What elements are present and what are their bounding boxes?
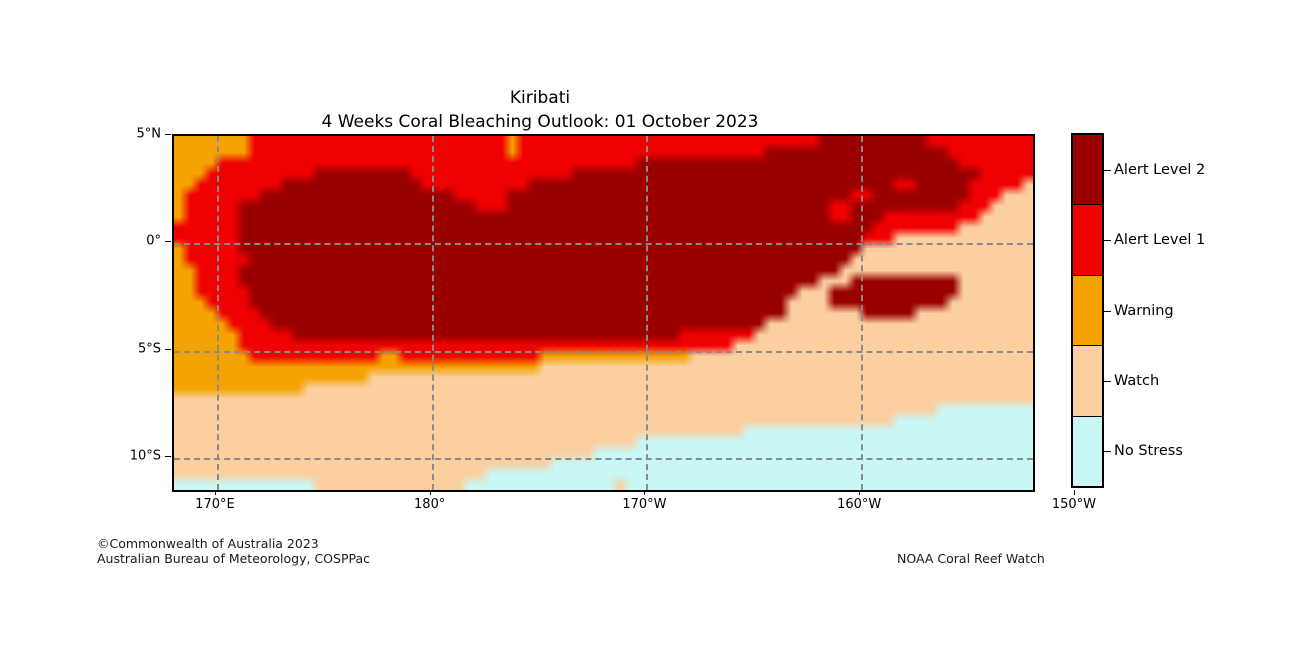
legend-colorbar bbox=[1071, 133, 1104, 488]
x-axis-tick-mark bbox=[215, 490, 216, 495]
x-axis-tick-mark bbox=[644, 490, 645, 495]
y-axis-tick-label: 5°N bbox=[137, 127, 162, 142]
legend-label-watch: Watch bbox=[1114, 373, 1159, 389]
copyright-credit: ©Commonwealth of Australia 2023 Australi… bbox=[97, 536, 370, 566]
page-subtitle: 4 Weeks Coral Bleaching Outlook: 01 Octo… bbox=[0, 110, 1080, 134]
x-axis-tick-label: 160°W bbox=[837, 497, 881, 512]
legend-label-no-stress: No Stress bbox=[1114, 443, 1183, 459]
y-axis-tick-mark bbox=[165, 241, 171, 242]
legend-label-alert-level-1: Alert Level 1 bbox=[1114, 232, 1205, 248]
x-axis-tick-mark bbox=[1074, 490, 1075, 495]
x-axis-tick-label: 170°E bbox=[195, 497, 235, 512]
x-axis-tick-mark bbox=[430, 490, 431, 495]
bleaching-outlook-raster bbox=[174, 136, 1033, 490]
copyright-line-1: ©Commonwealth of Australia 2023 bbox=[97, 536, 370, 551]
y-axis-tick-label: 10°S bbox=[130, 448, 161, 463]
y-axis-tick-mark bbox=[165, 349, 171, 350]
figure-title: Kiribati 4 Weeks Coral Bleaching Outlook… bbox=[0, 86, 1080, 134]
legend-tick-mark bbox=[1104, 311, 1111, 312]
legend-tick-mark bbox=[1104, 451, 1111, 452]
coral-bleaching-outlook-figure: Kiribati 4 Weeks Coral Bleaching Outlook… bbox=[0, 0, 1293, 667]
legend-tick-mark bbox=[1104, 240, 1111, 241]
y-axis-tick-mark bbox=[165, 456, 171, 457]
x-axis-tick-mark bbox=[859, 490, 860, 495]
legend-swatch-alert-level-1 bbox=[1073, 204, 1102, 274]
map-plot-area bbox=[172, 134, 1035, 492]
legend-swatch-warning bbox=[1073, 275, 1102, 345]
x-axis-tick-label: 180° bbox=[414, 497, 445, 512]
copyright-line-2: Australian Bureau of Meteorology, COSPPa… bbox=[97, 551, 370, 566]
y-axis-tick-label: 5°S bbox=[138, 341, 161, 356]
y-axis-tick-mark bbox=[165, 134, 171, 135]
x-axis-tick-label: 150°W bbox=[1052, 497, 1096, 512]
page-title: Kiribati bbox=[0, 86, 1080, 110]
y-axis-tick-label: 0° bbox=[146, 234, 161, 249]
legend-label-warning: Warning bbox=[1114, 303, 1174, 319]
legend-tick-mark bbox=[1104, 170, 1111, 171]
x-axis-tick-label: 170°W bbox=[622, 497, 666, 512]
legend-swatch-alert-level-2 bbox=[1073, 135, 1102, 204]
legend-swatch-no-stress bbox=[1073, 416, 1102, 486]
data-source-credit: NOAA Coral Reef Watch bbox=[897, 551, 1045, 566]
legend-label-alert-level-2: Alert Level 2 bbox=[1114, 162, 1205, 178]
legend-tick-mark bbox=[1104, 381, 1111, 382]
legend-swatch-watch bbox=[1073, 345, 1102, 415]
